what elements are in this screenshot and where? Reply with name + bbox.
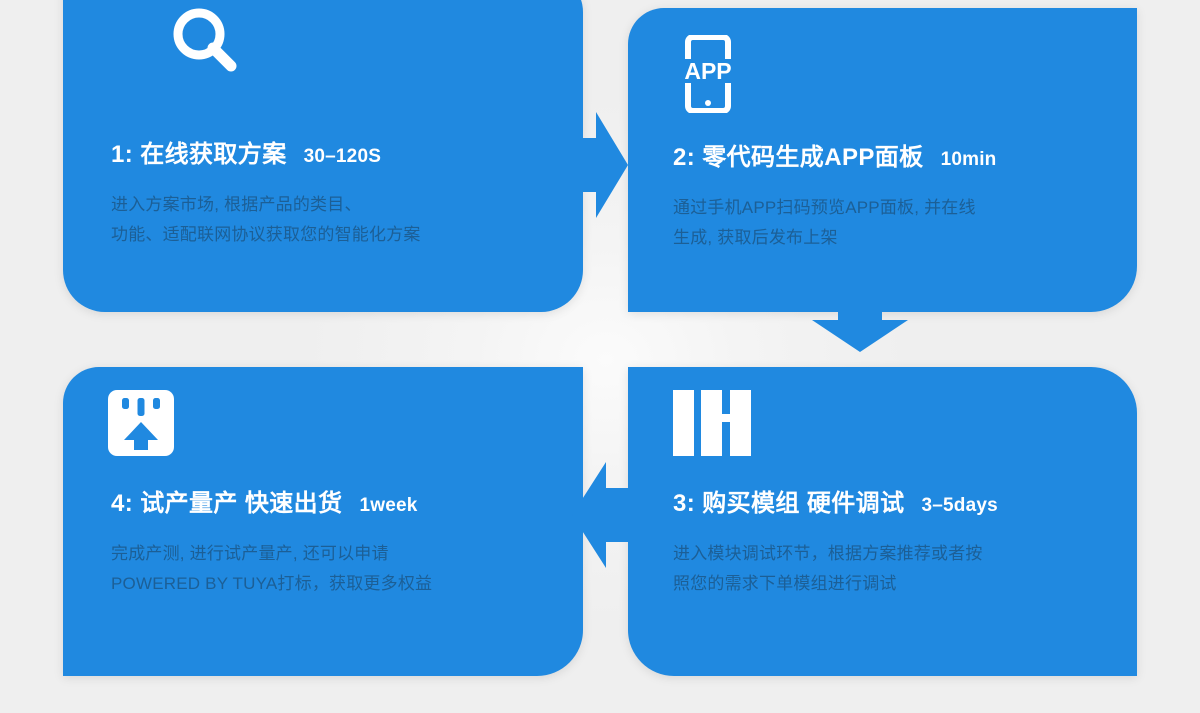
step-card-2-desc-line-1: 通过手机APP扫码预览APP面板, 并在线 <box>673 193 1093 223</box>
step-card-4-duration: 1week <box>359 495 417 517</box>
step-card-4-body: 4: 试产量产 快速出货 1week 完成产测, 进行试产量产, 还可以申请 P… <box>111 491 559 599</box>
step-card-3-description: 进入模块调试环节，根据方案推荐或者按 照您的需求下单模组进行调试 <box>673 539 1093 599</box>
app-phone-icon: APP <box>674 35 742 118</box>
step-card-3-title: 3: 购买模组 硬件调试 <box>673 491 904 517</box>
arrow-left-icon <box>572 462 628 573</box>
step-card-1-desc-line-1: 进入方案市场, 根据产品的类目、 <box>111 190 531 220</box>
step-card-2-duration: 10min <box>941 149 997 171</box>
step-card-1-description: 进入方案市场, 根据产品的类目、 功能、适配联网协议获取您的智能化方案 <box>111 190 531 250</box>
step-card-3-desc-line-1: 进入模块调试环节，根据方案推荐或者按 <box>673 539 1093 569</box>
step-card-4[interactable]: 4: 试产量产 快速出货 1week 完成产测, 进行试产量产, 还可以申请 P… <box>63 367 583 676</box>
step-card-4-description: 完成产测, 进行试产量产, 还可以申请 POWERED BY TUYA打标，获取… <box>111 539 531 599</box>
modules-bars-icon <box>673 390 751 461</box>
shipping-box-icon <box>108 390 174 461</box>
step-card-4-title-row: 4: 试产量产 快速出货 1week <box>111 491 559 517</box>
step-card-2[interactable]: APP 2: 零代码生成APP面板 10min 通过手机APP扫码预览APP面板… <box>628 8 1137 312</box>
search-magnifier-icon <box>169 4 241 81</box>
step-card-1-desc-line-2: 功能、适配联网协议获取您的智能化方案 <box>111 220 531 250</box>
step-card-2-body: 2: 零代码生成APP面板 10min 通过手机APP扫码预览APP面板, 并在… <box>673 145 1113 253</box>
step-card-3-body: 3: 购买模组 硬件调试 3–5days 进入模块调试环节，根据方案推荐或者按 … <box>673 491 1113 599</box>
step-card-2-desc-line-2: 生成, 获取后发布上架 <box>673 223 1093 253</box>
step-card-1-title: 1: 在线获取方案 <box>111 142 287 168</box>
arrow-right-icon <box>574 112 628 223</box>
step-card-2-title: 2: 零代码生成APP面板 <box>673 145 924 171</box>
step-card-2-description: 通过手机APP扫码预览APP面板, 并在线 生成, 获取后发布上架 <box>673 193 1093 253</box>
step-card-3-title-row: 3: 购买模组 硬件调试 3–5days <box>673 491 1113 517</box>
step-card-3-duration: 3–5days <box>921 495 997 517</box>
step-card-1-title-row: 1: 在线获取方案 30–120S <box>111 142 559 168</box>
process-flow-diagram: 1: 在线获取方案 30–120S 进入方案市场, 根据产品的类目、 功能、适配… <box>0 0 1200 713</box>
step-card-4-title: 4: 试产量产 快速出货 <box>111 491 342 517</box>
app-phone-icon-label: APP <box>684 58 731 84</box>
step-card-3-desc-line-2: 照您的需求下单模组进行调试 <box>673 569 1093 599</box>
step-card-4-desc-line-1: 完成产测, 进行试产量产, 还可以申请 <box>111 539 531 569</box>
step-card-4-desc-line-2: POWERED BY TUYA打标，获取更多权益 <box>111 569 531 599</box>
step-card-2-title-row: 2: 零代码生成APP面板 10min <box>673 145 1113 171</box>
step-card-1-duration: 30–120S <box>304 146 381 168</box>
step-card-3[interactable]: 3: 购买模组 硬件调试 3–5days 进入模块调试环节，根据方案推荐或者按 … <box>628 367 1137 676</box>
arrow-down-icon <box>812 300 908 357</box>
step-card-1[interactable]: 1: 在线获取方案 30–120S 进入方案市场, 根据产品的类目、 功能、适配… <box>63 0 583 312</box>
step-card-1-body: 1: 在线获取方案 30–120S 进入方案市场, 根据产品的类目、 功能、适配… <box>111 142 559 250</box>
